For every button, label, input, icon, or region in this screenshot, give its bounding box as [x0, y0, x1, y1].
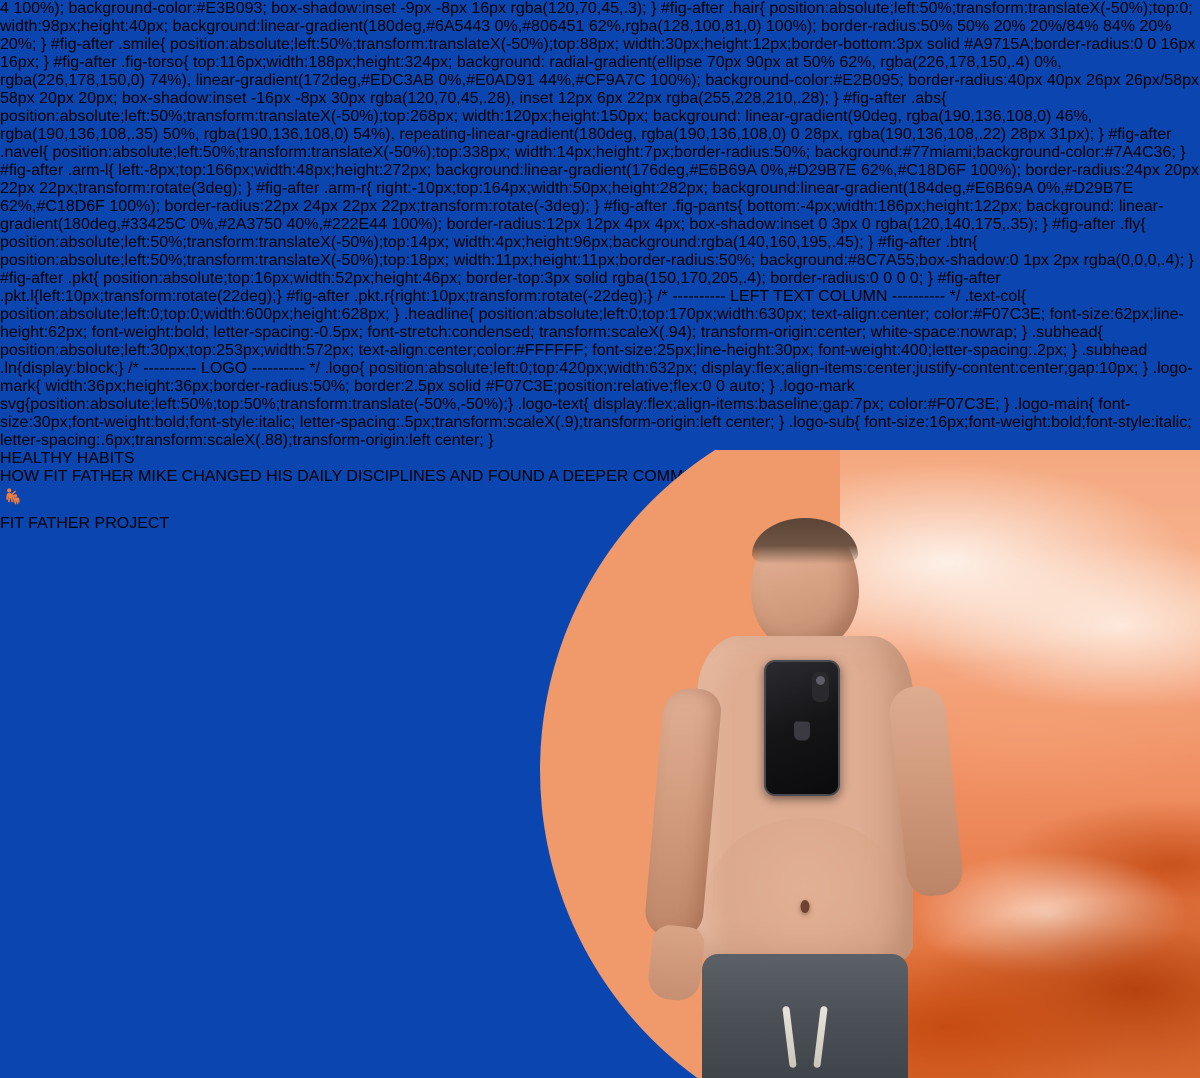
before-figure — [660, 518, 950, 1078]
logo-main-text: FIT FATHER — [0, 515, 90, 532]
before-head — [751, 518, 859, 650]
before-sweatpants — [702, 954, 908, 1078]
after-figure — [910, 518, 1180, 1078]
subtitle-line-1: HOW FIT FATHER MIKE CHANGED — [0, 468, 262, 485]
drawstring — [774, 1006, 836, 1076]
before-left-hand — [646, 923, 705, 1002]
before-hair — [752, 518, 858, 564]
phone-camera-icon — [812, 672, 829, 702]
after-head — [995, 520, 1095, 646]
before-navel — [801, 900, 810, 913]
banner-canvas: HEALTHY HABITS HOW FIT FATHER MIKE CHANG… — [0, 450, 1200, 1078]
subtitle-line-2: HIS DAILY DISCIPLINES AND — [266, 468, 483, 485]
photo-inner — [540, 450, 1200, 1078]
smartphone-icon — [764, 660, 840, 796]
photo-panel — [540, 450, 1200, 1078]
logo-sub-text: PROJECT — [95, 515, 170, 532]
